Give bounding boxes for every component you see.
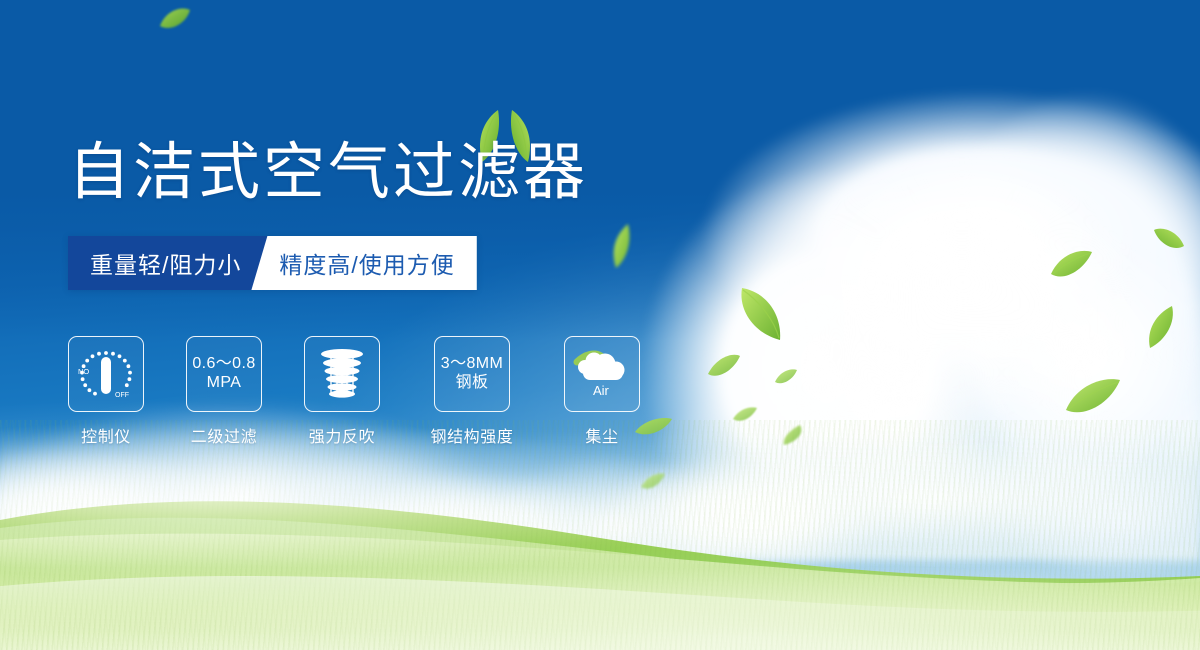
steel-line-1: 3～8MM — [441, 355, 503, 374]
feature-icon-box: NO OFF — [68, 336, 144, 412]
feature-item-control-instrument: NO OFF 控制仪 — [68, 336, 144, 447]
feature-label: 二级过滤 — [191, 423, 257, 447]
dial-off-label: OFF — [115, 392, 129, 399]
control-dial-icon: NO OFF — [75, 345, 137, 403]
feature-label: 钢结构强度 — [430, 423, 513, 447]
steel-plate-icon: 3～8MM 钢板 — [441, 355, 503, 393]
feature-icon-box: Air — [564, 336, 640, 412]
filter-stack-icon — [315, 346, 369, 402]
feature-item-secondary-filtration: 0.6～0.8 MPA 二级过滤 — [186, 336, 262, 447]
steel-line-2: 钢板 — [441, 374, 503, 393]
product-banner: 自洁式空气过滤器 重量轻/阻力小 精度高/使用方便 — [0, 0, 1200, 650]
tagline-secondary: 精度高/使用方便 — [251, 236, 476, 290]
feature-label: 集尘 — [585, 423, 618, 447]
feature-icon-box: 0.6～0.8 MPA — [186, 336, 262, 412]
feature-icon-box — [304, 336, 380, 412]
air-label: Air — [593, 383, 610, 398]
feature-item-strong-blowback: 强力反吹 — [304, 336, 380, 447]
pressure-value-icon: 0.6～0.8 MPA — [192, 355, 255, 393]
tagline-primary: 重量轻/阻力小 — [68, 236, 267, 290]
feature-label: 控制仪 — [81, 423, 131, 447]
pressure-line-2: MPA — [192, 374, 255, 393]
feature-icon-box: 3～8MM 钢板 — [434, 336, 510, 412]
banner-content: 自洁式空气过滤器 重量轻/阻力小 精度高/使用方便 — [0, 0, 1200, 650]
air-cloud-icon: Air — [571, 346, 633, 402]
pressure-line-1: 0.6～0.8 — [192, 355, 255, 374]
page-title: 自洁式空气过滤器 — [68, 142, 588, 204]
feature-label: 强力反吹 — [309, 423, 375, 447]
feature-item-dust-collection: Air 集尘 — [564, 336, 640, 447]
feature-item-steel-strength: 3～8MM 钢板 钢结构强度 — [422, 336, 522, 447]
dial-on-label: NO — [78, 367, 89, 376]
tagline-bar: 重量轻/阻力小 精度高/使用方便 — [68, 236, 477, 290]
feature-list: NO OFF 控制仪 0.6～0.8 MPA 二级过滤 — [68, 336, 640, 447]
